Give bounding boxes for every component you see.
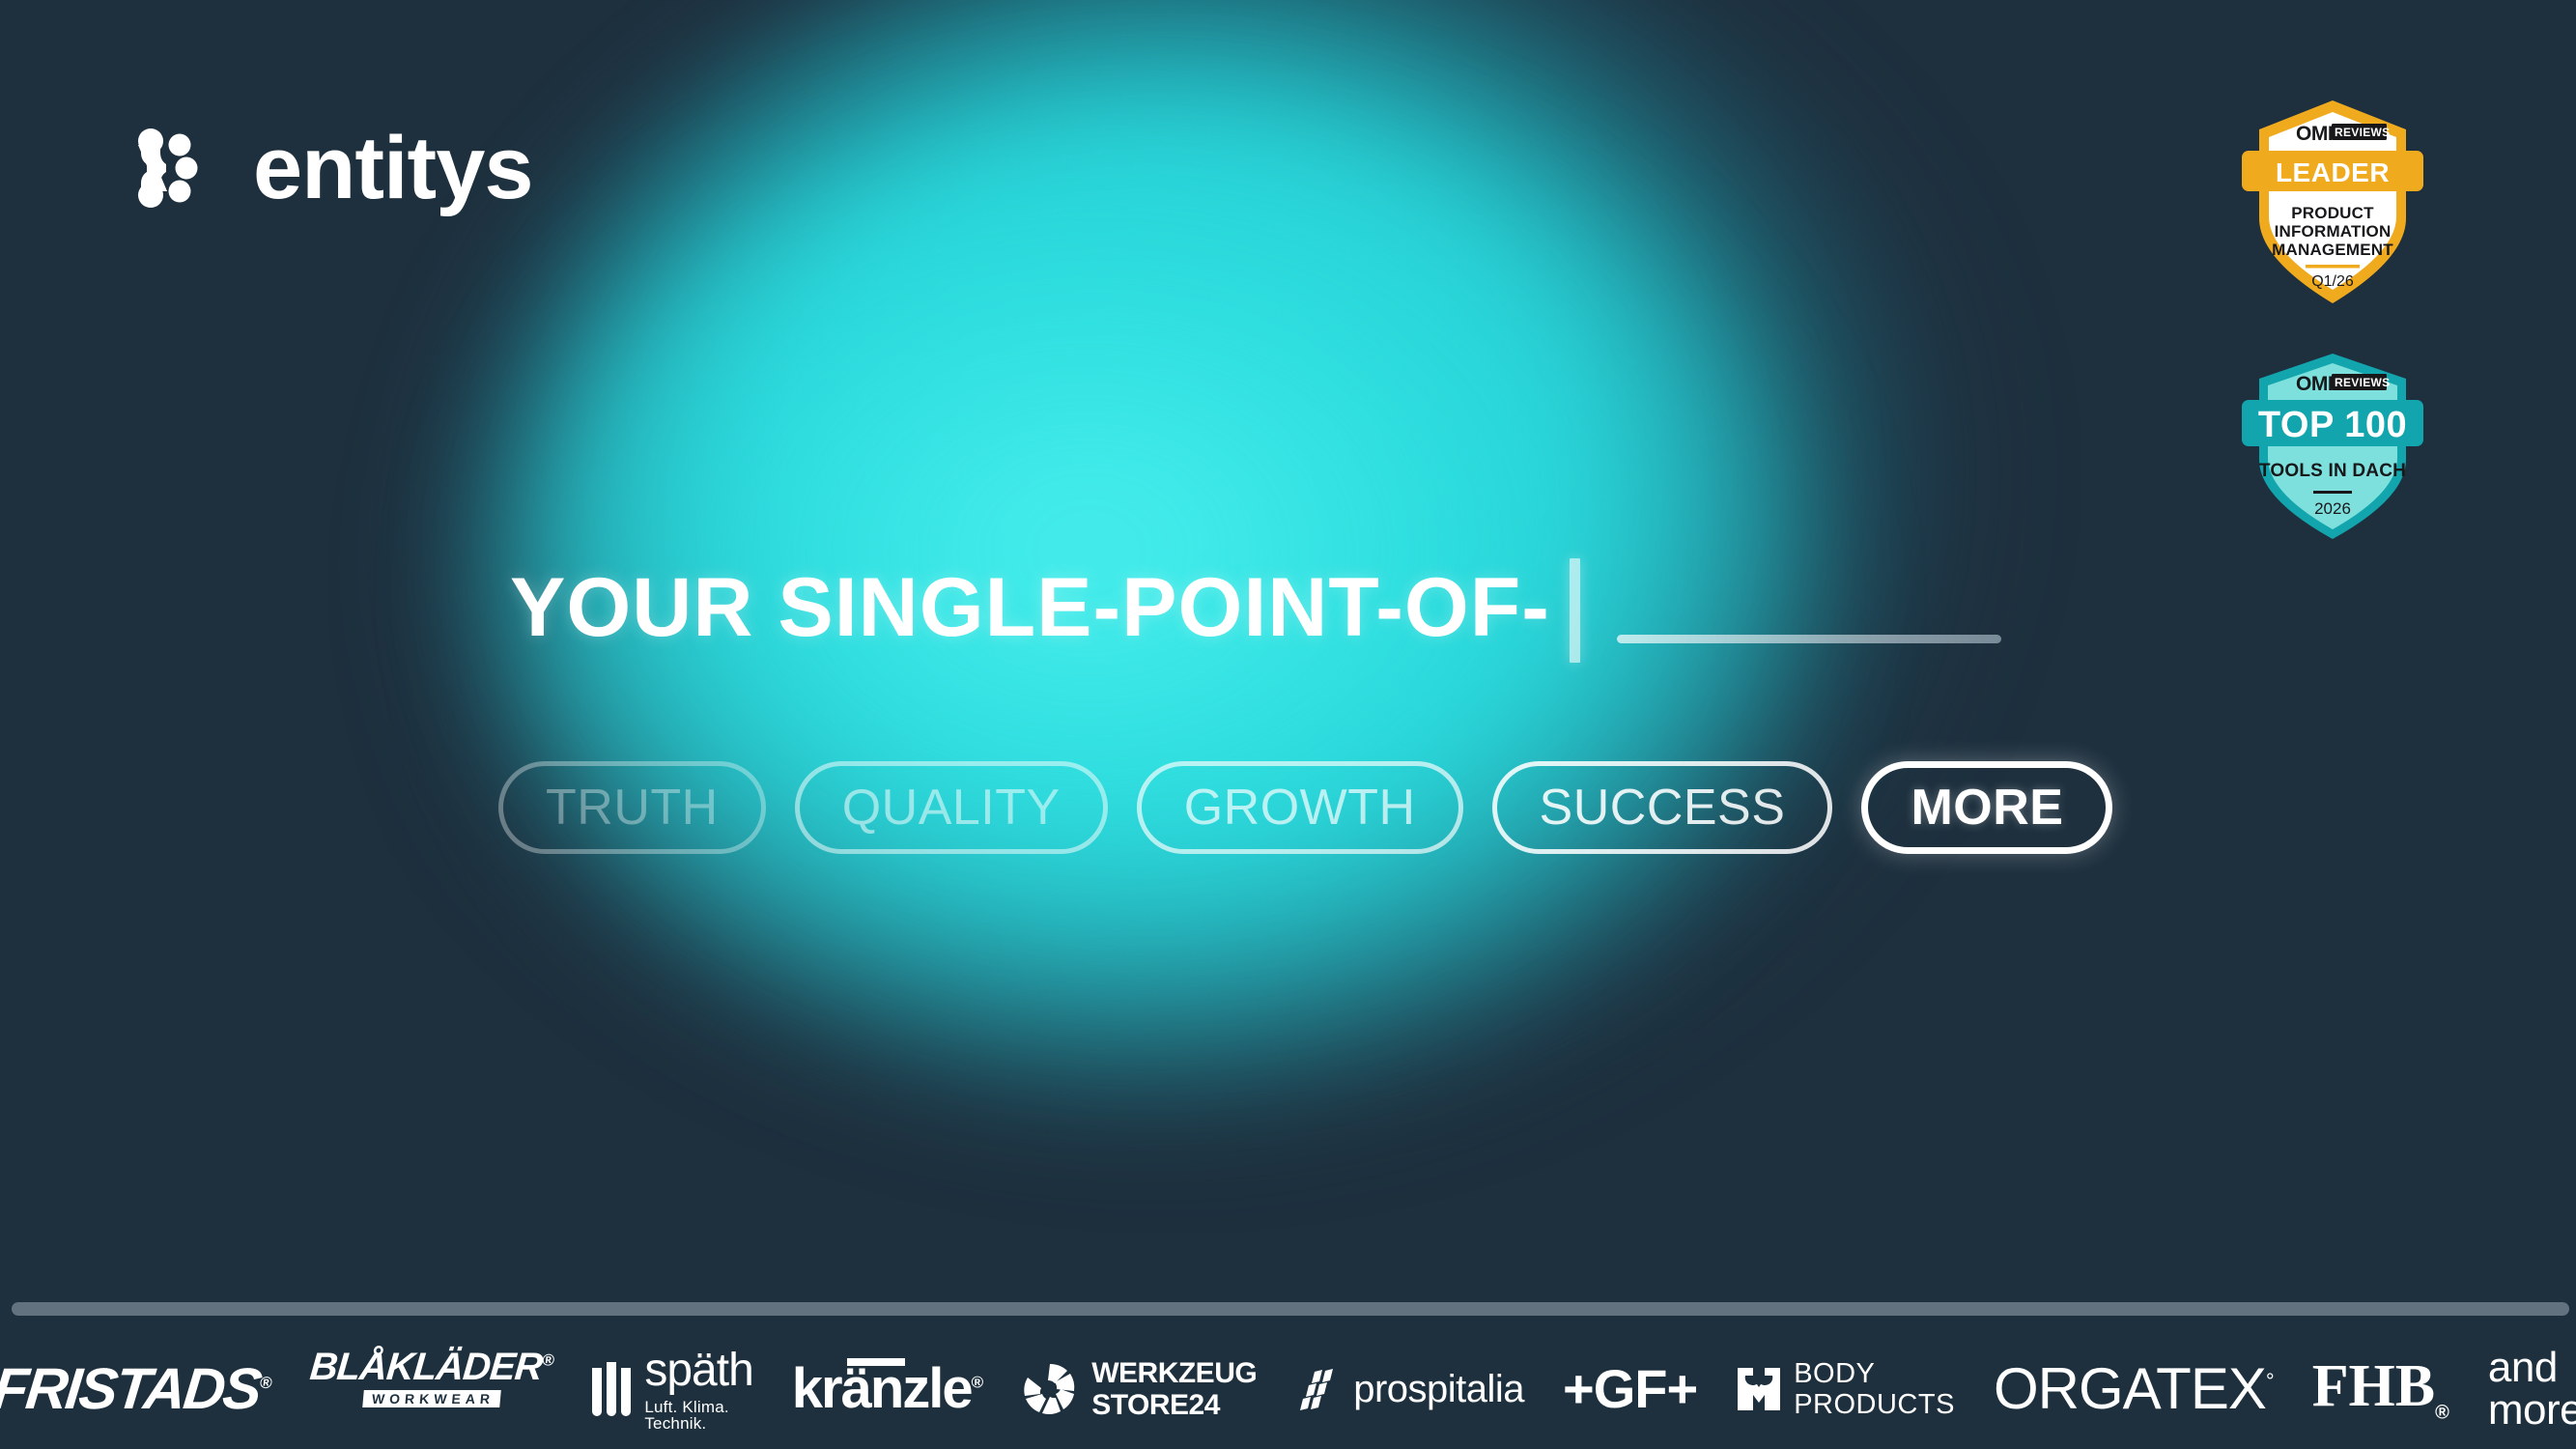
svg-text:PRODUCT: PRODUCT <box>2291 204 2374 222</box>
headline-text: YOUR SINGLE-POINT-OF- <box>510 566 1550 649</box>
hero-headline: YOUR SINGLE-POINT-OF- <box>510 558 2001 649</box>
svg-text:REVIEWS: REVIEWS <box>2335 376 2390 389</box>
svg-text:TOOLS IN DACH: TOOLS IN DACH <box>2259 461 2406 481</box>
svg-text:REVIEWS: REVIEWS <box>2335 126 2390 139</box>
svg-text:INFORMATION: INFORMATION <box>2275 222 2392 241</box>
award-badges: OMR REVIEWS LEADER PRODUCT INFORMATION M… <box>2236 97 2429 543</box>
omr-reviews-leader-badge-icon[interactable]: OMR REVIEWS LEADER PRODUCT INFORMATION M… <box>2236 97 2429 309</box>
spaeth-bars-icon <box>592 1362 631 1416</box>
kranzle-logo-icon: kränzle® <box>792 1348 983 1431</box>
pill-growth[interactable]: GROWTH <box>1137 761 1463 854</box>
pill-quality[interactable]: QUALITY <box>795 761 1108 854</box>
pill-truth[interactable]: TRUTH <box>498 761 766 854</box>
svg-text:MANAGEMENT: MANAGEMENT <box>2272 241 2393 259</box>
werkzeugstore24-logo-icon: WERKZEUG STORE24 <box>1022 1348 1257 1431</box>
body-products-logo-icon: BODY PRODUCTS <box>1736 1348 1955 1431</box>
prospitalia-logo-icon: prospitalia <box>1295 1348 1524 1431</box>
svg-text:2026: 2026 <box>2314 499 2351 518</box>
text-cursor-caret-icon <box>1570 558 1580 663</box>
body-products-mark-icon <box>1736 1366 1782 1412</box>
pinwheel-icon <box>1022 1361 1078 1417</box>
fristads-logo-icon: FRISTADS® <box>0 1348 271 1431</box>
pill-success[interactable]: SUCCESS <box>1492 761 1833 854</box>
entitys-node-mark-icon <box>122 124 211 213</box>
fhb-logo-icon: FHB® <box>2312 1348 2449 1431</box>
svg-text:Q1/26: Q1/26 <box>2311 273 2354 290</box>
brand-logo[interactable]: entitys <box>122 124 533 213</box>
and-more-label: and more <box>2488 1348 2576 1431</box>
svg-text:TOP 100: TOP 100 <box>2258 405 2407 445</box>
hero-stage: entitys YOUR SINGLE-POINT-OF- TRUTH QUAL… <box>0 0 2576 1449</box>
blaklader-logo-icon: BLÅKLÄDER® WORKWEAR <box>310 1348 553 1431</box>
pill-more[interactable]: MORE <box>1861 761 2112 854</box>
spaeth-logo-icon: späth Luft. Klima. Technik. <box>592 1348 752 1431</box>
omr-reviews-top100-badge-icon[interactable]: OMR REVIEWS TOP 100 TOOLS IN DACH 2026 <box>2236 350 2429 543</box>
hero-pill-row: TRUTH QUALITY GROWTH SUCCESS MORE <box>498 761 2112 854</box>
brand-logo-text: entitys <box>253 124 533 213</box>
fill-in-blank-underline-icon <box>1617 635 2001 643</box>
orgatex-logo-icon: ORGATEX° <box>1994 1348 2274 1431</box>
svg-text:LEADER: LEADER <box>2276 157 2390 187</box>
prospitalia-mark-icon <box>1295 1368 1338 1410</box>
horizontal-divider-icon <box>12 1302 2569 1316</box>
customer-logo-strip: FRISTADS® BLÅKLÄDER® WORKWEAR späth Luft… <box>0 1345 2576 1434</box>
georg-fischer-logo-icon: +GF+ <box>1563 1348 1697 1431</box>
